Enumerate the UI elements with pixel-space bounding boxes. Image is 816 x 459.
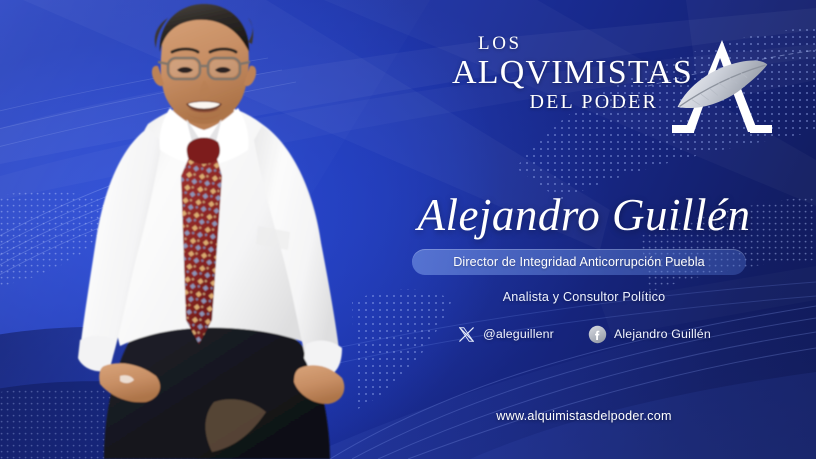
guest-photo bbox=[0, 0, 400, 459]
guest-name: Alejandro Guillén bbox=[396, 192, 772, 239]
brand-line-sub: DEL PODER bbox=[452, 92, 658, 112]
x-twitter-icon bbox=[457, 325, 476, 344]
brand-wordmark: LOS ALQVIMISTAS DEL PODER bbox=[452, 34, 662, 112]
guest-role-badge: Director de Integridad Anticorrupción Pu… bbox=[412, 249, 746, 275]
social-item-facebook[interactable]: Alejandro Guillén bbox=[588, 325, 711, 344]
social-handles: @aleguillenr Alejandro Guillén bbox=[396, 322, 772, 346]
guest-subtitle: Analista y Consultor Político bbox=[396, 290, 772, 304]
brand-line-los: LOS bbox=[478, 34, 662, 53]
facebook-icon bbox=[588, 325, 607, 344]
a-monogram-feather-icon bbox=[660, 28, 784, 148]
social-item-x[interactable]: @aleguillenr bbox=[457, 325, 554, 344]
website-url[interactable]: www.alquimistasdelpoder.com bbox=[396, 409, 772, 423]
brand-logo: LOS ALQVIMISTAS DEL PODER bbox=[452, 34, 782, 144]
x-handle: @aleguillenr bbox=[483, 327, 554, 341]
guest-role-label: Director de Integridad Anticorrupción Pu… bbox=[453, 255, 705, 269]
broadcast-lower-third-graphic: LOS ALQVIMISTAS DEL PODER bbox=[0, 0, 816, 459]
facebook-handle: Alejandro Guillén bbox=[614, 327, 711, 341]
brand-line-main: ALQVIMISTAS bbox=[452, 55, 662, 91]
